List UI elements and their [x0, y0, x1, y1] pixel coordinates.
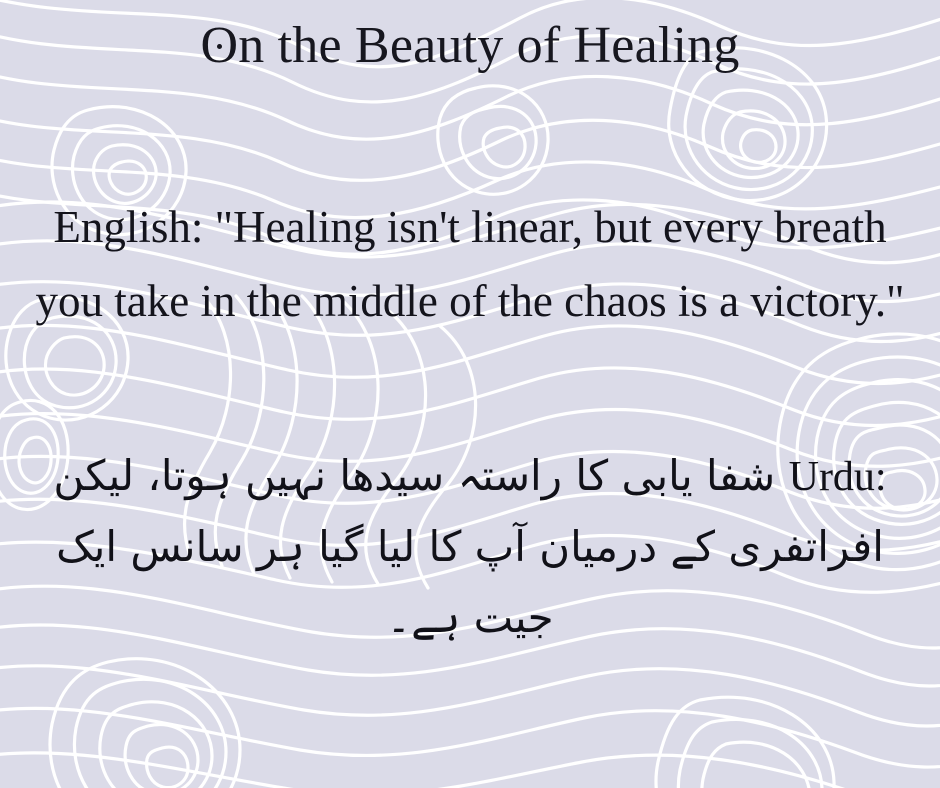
- urdu-quote-text: شفا یابی کا راستہ سیدھا نہیں ہوتا، لیکن …: [53, 451, 884, 642]
- title-rest: n the Beauty of Healing: [238, 17, 739, 74]
- page-title: On the Beauty of Healing: [200, 18, 739, 73]
- poster-content: On the Beauty of Healing English: "Heali…: [0, 0, 940, 788]
- english-quote: English: "Healing isn't linear, but ever…: [30, 191, 910, 339]
- urdu-label: Urdu:: [789, 454, 887, 500]
- quote-poster: On the Beauty of Healing English: "Heali…: [0, 0, 940, 788]
- title-ornament-o: O: [200, 18, 238, 73]
- urdu-quote: Urdu: شفا یابی کا راستہ سیدھا نہیں ہوتا،…: [25, 441, 915, 654]
